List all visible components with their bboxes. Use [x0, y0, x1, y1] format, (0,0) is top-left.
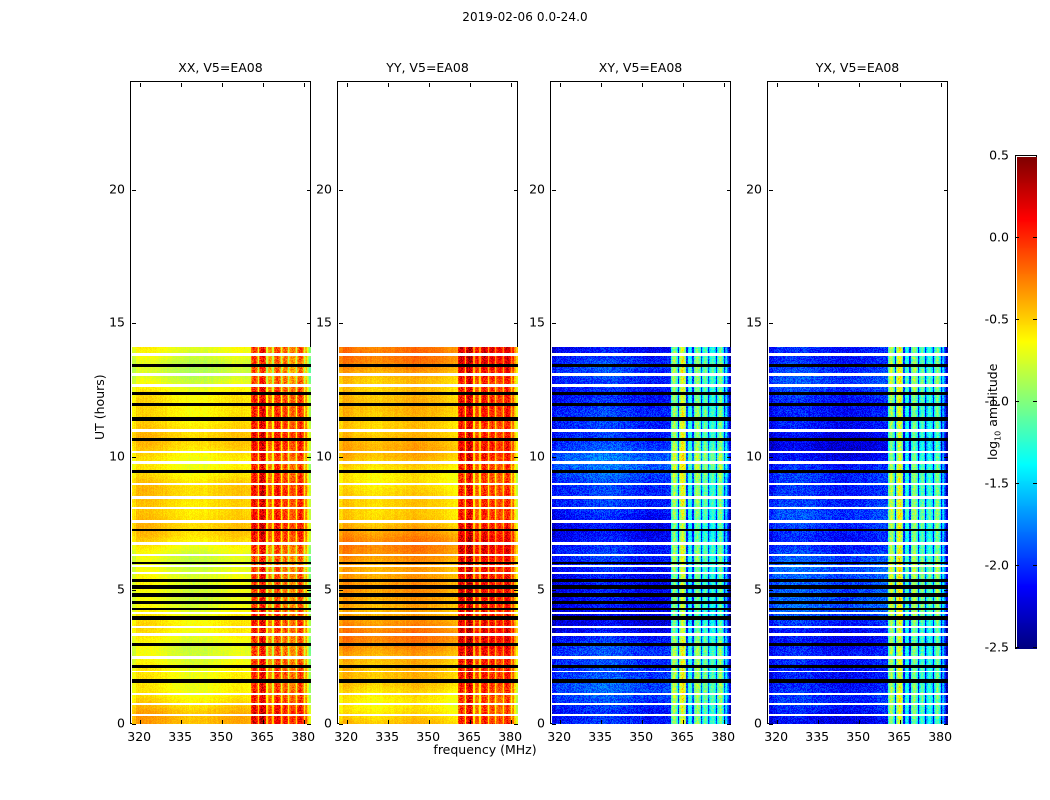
colorbar-ticklabel-0.0: 0.0 — [973, 230, 1009, 245]
xtick-xy-350 — [642, 83, 643, 87]
yticklabel-xy-10: 10 — [521, 448, 545, 463]
ytick-xx-0 — [132, 724, 136, 725]
ytick-yx-20 — [769, 190, 773, 191]
yticklabel-xx-10: 10 — [101, 448, 125, 463]
heatmap-image-yy — [339, 347, 518, 724]
ytick-yy-15 — [339, 323, 343, 324]
ytick-yy-10 — [339, 457, 343, 458]
spectrogram-panel-xx: XX, V5=EA08 — [130, 81, 311, 724]
ytick-yx-10 — [944, 457, 948, 458]
xtick-xx-320 — [140, 83, 141, 87]
ytick-xx-20 — [132, 190, 136, 191]
colorbar-label-tail: amplitude — [985, 364, 1000, 431]
ytick-yy-15 — [514, 323, 518, 324]
yticklabel-yx-10: 10 — [738, 448, 762, 463]
xticklabel-yx-320: 320 — [764, 729, 788, 744]
xtick-yy-350 — [429, 720, 430, 724]
xticklabel-xy-335: 335 — [588, 729, 612, 744]
ytick-yy-5 — [514, 590, 518, 591]
xtick-yy-335 — [388, 83, 389, 87]
xtick-xx-335 — [181, 720, 182, 724]
xtick-xx-335 — [181, 83, 182, 87]
xticklabel-xy-365: 365 — [670, 729, 694, 744]
xtick-xy-320 — [560, 720, 561, 724]
ytick-yx-20 — [944, 190, 948, 191]
yticklabel-xy-0: 0 — [521, 716, 545, 731]
xtick-xy-350 — [642, 720, 643, 724]
colorbar-label-subscript: 10 — [994, 431, 1003, 441]
panel-title-xx: XX, V5=EA08 — [131, 60, 310, 75]
xticklabel-yx-380: 380 — [928, 729, 952, 744]
colorbar-gradient — [1015, 155, 1037, 649]
xticklabel-xx-320: 320 — [127, 729, 151, 744]
colorbar-tick-inner--2.0 — [1033, 565, 1037, 566]
xtick-yx-380 — [941, 720, 942, 724]
ytick-xx-15 — [132, 323, 136, 324]
xtick-yx-320 — [777, 83, 778, 87]
xtick-xx-320 — [140, 720, 141, 724]
colorbar-tick--0.5 — [1015, 319, 1019, 320]
ytick-xy-5 — [727, 590, 731, 591]
yticklabel-xy-20: 20 — [521, 181, 545, 196]
xticklabel-xy-380: 380 — [711, 729, 735, 744]
ytick-yy-0 — [514, 724, 518, 725]
colorbar-tick--2.5 — [1015, 647, 1019, 648]
ytick-yx-0 — [769, 724, 773, 725]
ytick-yx-5 — [769, 590, 773, 591]
yticklabel-yx-15: 15 — [738, 315, 762, 330]
heatmap-image-xx — [132, 347, 311, 724]
xtick-yy-350 — [429, 83, 430, 87]
colorbar-tick-inner--2.5 — [1033, 647, 1037, 648]
colorbar-tick--1.0 — [1015, 401, 1019, 402]
xtick-xy-335 — [601, 83, 602, 87]
figure-canvas: 2019-02-06 0.0-24.0 XX, V5=EA08320335350… — [0, 0, 1050, 800]
x-axis-label: frequency (MHz) — [433, 742, 536, 757]
ytick-xy-20 — [552, 190, 556, 191]
xtick-xx-380 — [304, 720, 305, 724]
ytick-xy-10 — [552, 457, 556, 458]
ytick-yy-10 — [514, 457, 518, 458]
spectrogram-panel-yy: YY, V5=EA08 — [337, 81, 518, 724]
colorbar-tick-inner-0.0 — [1033, 237, 1037, 238]
colorbar-tick-inner-0.5 — [1033, 155, 1037, 156]
ytick-xy-10 — [727, 457, 731, 458]
colorbar-label-main: log — [985, 441, 1000, 460]
colorbar-ticklabel--0.5: -0.5 — [973, 312, 1009, 327]
yticklabel-yx-20: 20 — [738, 181, 762, 196]
ytick-yy-5 — [339, 590, 343, 591]
colorbar-label: log10 amplitude — [985, 364, 1003, 460]
colorbar-tick-inner--1.5 — [1033, 483, 1037, 484]
yticklabel-xx-0: 0 — [101, 716, 125, 731]
colorbar-image — [1017, 157, 1037, 649]
xticklabel-xy-320: 320 — [547, 729, 571, 744]
xtick-xy-365 — [683, 720, 684, 724]
ytick-xy-20 — [727, 190, 731, 191]
colorbar-ticklabel--1.5: -1.5 — [973, 476, 1009, 491]
xtick-yy-365 — [470, 720, 471, 724]
yticklabel-xy-15: 15 — [521, 315, 545, 330]
colorbar-tick-inner--1.0 — [1033, 401, 1037, 402]
yticklabel-xx-20: 20 — [101, 181, 125, 196]
ytick-yy-20 — [339, 190, 343, 191]
xtick-yx-335 — [818, 720, 819, 724]
xtick-xy-380 — [724, 720, 725, 724]
xtick-xy-365 — [683, 83, 684, 87]
xticklabel-yy-320: 320 — [334, 729, 358, 744]
xtick-xx-350 — [222, 720, 223, 724]
xtick-yy-380 — [511, 720, 512, 724]
xtick-yy-380 — [511, 83, 512, 87]
xtick-xy-335 — [601, 720, 602, 724]
xticklabel-xx-350: 350 — [209, 729, 233, 744]
colorbar-tick--2.0 — [1015, 565, 1019, 566]
ytick-xx-10 — [132, 457, 136, 458]
xtick-yx-335 — [818, 83, 819, 87]
xtick-xx-365 — [263, 720, 264, 724]
xticklabel-yx-365: 365 — [887, 729, 911, 744]
yticklabel-yy-15: 15 — [308, 315, 332, 330]
yticklabel-yx-0: 0 — [738, 716, 762, 731]
yticklabel-yy-10: 10 — [308, 448, 332, 463]
ytick-xy-15 — [727, 323, 731, 324]
colorbar-ticklabel--2.0: -2.0 — [973, 558, 1009, 573]
xtick-yy-365 — [470, 83, 471, 87]
xtick-xx-380 — [304, 83, 305, 87]
figure-suptitle: 2019-02-06 0.0-24.0 — [0, 10, 1050, 24]
colorbar-tick--1.5 — [1015, 483, 1019, 484]
xtick-yy-320 — [347, 720, 348, 724]
xtick-xy-380 — [724, 83, 725, 87]
colorbar-tick-inner--0.5 — [1033, 319, 1037, 320]
ytick-xx-5 — [132, 590, 136, 591]
ytick-xy-15 — [552, 323, 556, 324]
xtick-yy-320 — [347, 83, 348, 87]
panel-title-yx: YX, V5=EA08 — [768, 60, 947, 75]
xtick-xx-365 — [263, 83, 264, 87]
ytick-yy-0 — [339, 724, 343, 725]
xticklabel-xx-380: 380 — [291, 729, 315, 744]
xticklabel-yx-335: 335 — [805, 729, 829, 744]
yticklabel-yy-20: 20 — [308, 181, 332, 196]
panel-title-yy: YY, V5=EA08 — [338, 60, 517, 75]
colorbar-tick-0.0 — [1015, 237, 1019, 238]
yticklabel-xy-5: 5 — [521, 582, 545, 597]
colorbar-ticklabel--2.5: -2.5 — [973, 640, 1009, 655]
yticklabel-yy-5: 5 — [308, 582, 332, 597]
yticklabel-yy-0: 0 — [308, 716, 332, 731]
xtick-yx-380 — [941, 83, 942, 87]
colorbar-ticklabel-0.5: 0.5 — [973, 148, 1009, 163]
panel-title-xy: XY, V5=EA08 — [551, 60, 730, 75]
ytick-yx-10 — [769, 457, 773, 458]
xtick-yy-335 — [388, 720, 389, 724]
ytick-yx-5 — [944, 590, 948, 591]
xticklabel-yy-335: 335 — [375, 729, 399, 744]
ytick-xy-5 — [552, 590, 556, 591]
heatmap-image-yx — [769, 347, 948, 724]
spectrogram-panel-xy: XY, V5=EA08 — [550, 81, 731, 724]
colorbar-tick-0.5 — [1015, 155, 1019, 156]
yticklabel-xx-5: 5 — [101, 582, 125, 597]
xticklabel-xy-350: 350 — [629, 729, 653, 744]
ytick-xy-0 — [552, 724, 556, 725]
spectrogram-panel-yx: YX, V5=EA08 — [767, 81, 948, 724]
yticklabel-xx-15: 15 — [101, 315, 125, 330]
xticklabel-xx-335: 335 — [168, 729, 192, 744]
xtick-yx-350 — [859, 720, 860, 724]
xtick-xx-350 — [222, 83, 223, 87]
y-axis-label: UT (hours) — [92, 374, 107, 440]
xtick-yx-320 — [777, 720, 778, 724]
heatmap-image-xy — [552, 347, 731, 724]
ytick-yx-15 — [769, 323, 773, 324]
ytick-xy-0 — [727, 724, 731, 725]
xticklabel-xx-365: 365 — [250, 729, 274, 744]
xtick-yx-365 — [900, 720, 901, 724]
ytick-yx-15 — [944, 323, 948, 324]
ytick-yx-0 — [944, 724, 948, 725]
xtick-yx-350 — [859, 83, 860, 87]
ytick-yy-20 — [514, 190, 518, 191]
xtick-xy-320 — [560, 83, 561, 87]
xticklabel-yx-350: 350 — [846, 729, 870, 744]
xtick-yx-365 — [900, 83, 901, 87]
yticklabel-yx-5: 5 — [738, 582, 762, 597]
